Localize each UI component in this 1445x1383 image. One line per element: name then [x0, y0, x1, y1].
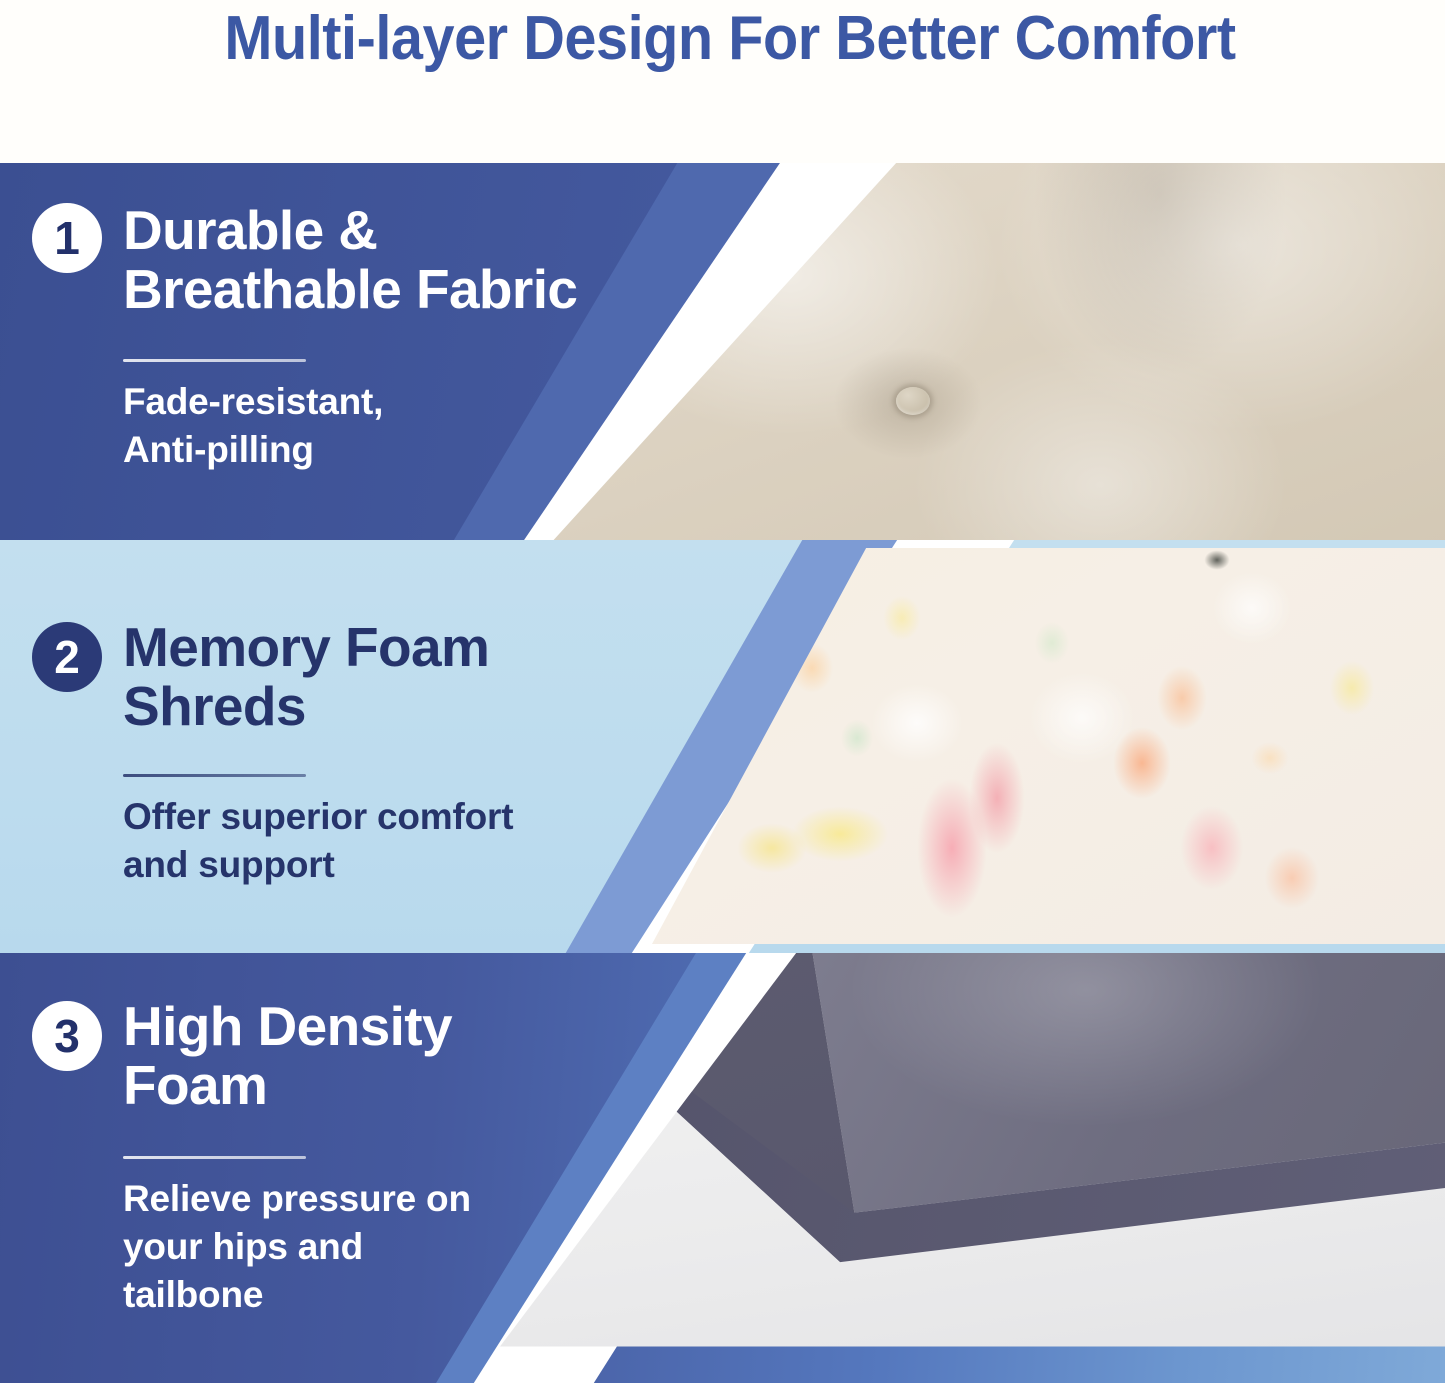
step-badge-3: 3: [32, 1001, 102, 1071]
heading-divider-3: [123, 1156, 306, 1159]
feature-heading-2: Memory Foam Shreds: [123, 618, 683, 736]
step-badge-2: 2: [32, 622, 102, 692]
feature-body-3: Relieve pressure on your hips and tailbo…: [123, 1175, 543, 1319]
feature-panel-1: 1 Durable & Breathable Fabric Fade-resis…: [0, 163, 1445, 540]
feature-panel-2: 2 Memory Foam Shreds Offer superior comf…: [0, 540, 1445, 953]
step-badge-1: 1: [32, 203, 102, 273]
feature-heading-3: High Density Foam: [123, 997, 643, 1115]
feature-heading-1: Durable & Breathable Fabric: [123, 201, 703, 319]
heading-divider-1: [123, 359, 306, 362]
heading-divider-2: [123, 774, 306, 777]
fabric-tuft-button: [896, 387, 930, 415]
feature-panel-3: 3 High Density Foam Relieve pressure on …: [0, 953, 1445, 1383]
product-feature-infographic: Multi-layer Design For Better Comfort 1 …: [0, 0, 1445, 1383]
feature-body-2: Offer superior comfort and support: [123, 793, 593, 889]
page-title: Multi-layer Design For Better Comfort: [98, 2, 1363, 76]
feature-body-1: Fade-resistant, Anti-pilling: [123, 378, 553, 474]
title-bar: Multi-layer Design For Better Comfort: [0, 0, 1445, 163]
